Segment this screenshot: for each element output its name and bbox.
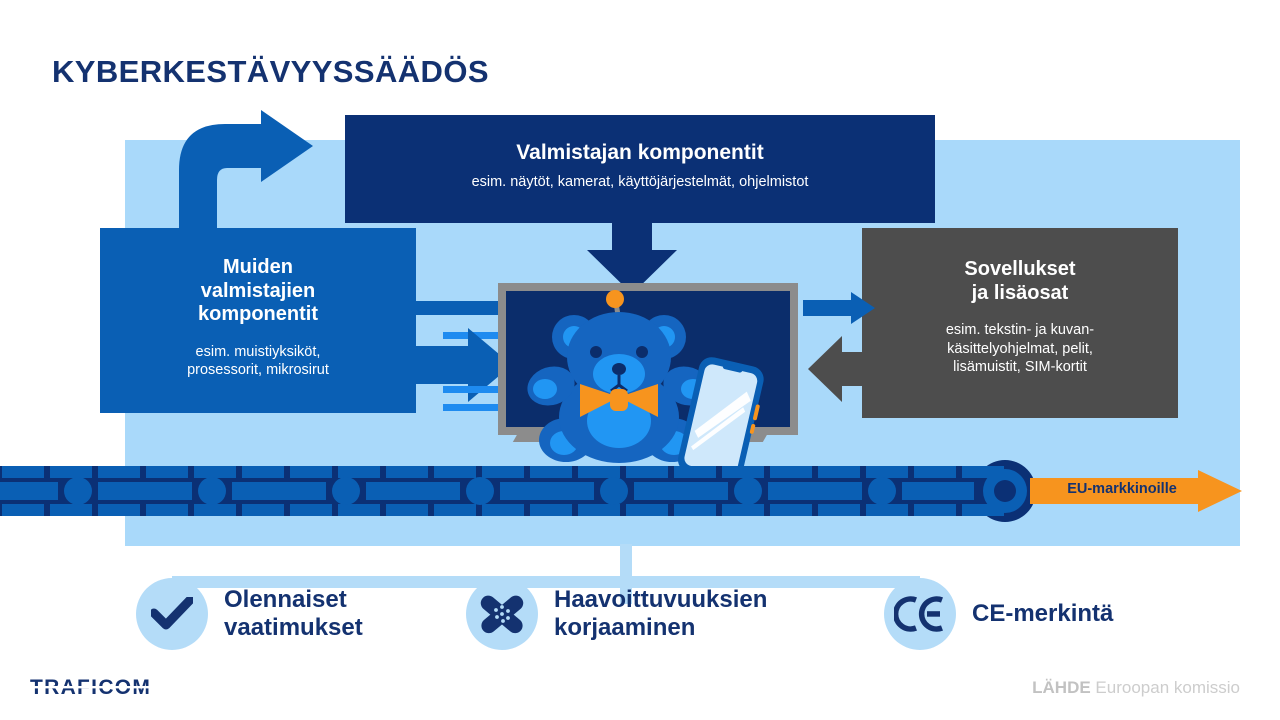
requirement-item-essential: Olennaiset vaatimukset — [136, 578, 363, 650]
ce-mark-icon — [884, 578, 956, 650]
box-manufacturer-components: Valmistajan komponentit esim. näytöt, ka… — [345, 115, 935, 223]
box-heading: Valmistajan komponentit — [516, 141, 763, 166]
requirement-item-vulnerability-fix: Haavoittuvuuksien korjaaminen — [466, 578, 767, 650]
product-illustration — [498, 283, 810, 473]
requirement-label: CE-merkintä — [972, 600, 1113, 628]
requirement-label: Olennaiset vaatimukset — [224, 586, 363, 642]
requirement-item-ce-marking: CE-merkintä — [884, 578, 1113, 650]
feed-connector-bar — [412, 301, 512, 315]
eu-market-label: EU-markkinoille — [1052, 481, 1192, 497]
traficom-logo: TRAFICOM — [30, 676, 162, 705]
box-heading: Muiden valmistajien komponentit — [198, 256, 318, 327]
arrow-left-from-applications — [808, 336, 890, 402]
box-subtext: esim. tekstin- ja kuvan- käsittelyohjelm… — [946, 321, 1094, 377]
source-label: LÄHDE — [1032, 678, 1091, 697]
arrow-right-to-applications — [803, 292, 875, 324]
conveyor-belt — [0, 460, 1040, 522]
checkmark-icon — [136, 578, 208, 650]
box-other-manufacturers-components: Muiden valmistajien komponentit esim. mu… — [100, 228, 416, 413]
box-heading: Sovellukset ja lisäosat — [964, 258, 1075, 305]
source-value: Euroopan komissio — [1095, 678, 1240, 697]
infographic-canvas: KYBERKESTÄVYYSSÄÄDÖS Valmistajan kompone… — [0, 0, 1280, 720]
box-applications-and-accessories: Sovellukset ja lisäosat esim. tekstin- j… — [862, 228, 1178, 418]
bandage-icon — [466, 578, 538, 650]
box-subtext: esim. näytöt, kamerat, käyttöjärjestelmä… — [472, 173, 809, 192]
source-credit: LÄHDE Euroopan komissio — [1032, 678, 1240, 698]
box-subtext: esim. muistiyksiköt, prosessorit, mikros… — [187, 343, 329, 380]
requirement-label: Haavoittuvuuksien korjaaminen — [554, 586, 767, 642]
page-title: KYBERKESTÄVYYSSÄÄDÖS — [52, 54, 489, 90]
elbow-arrow-to-manufacturer — [165, 108, 315, 248]
